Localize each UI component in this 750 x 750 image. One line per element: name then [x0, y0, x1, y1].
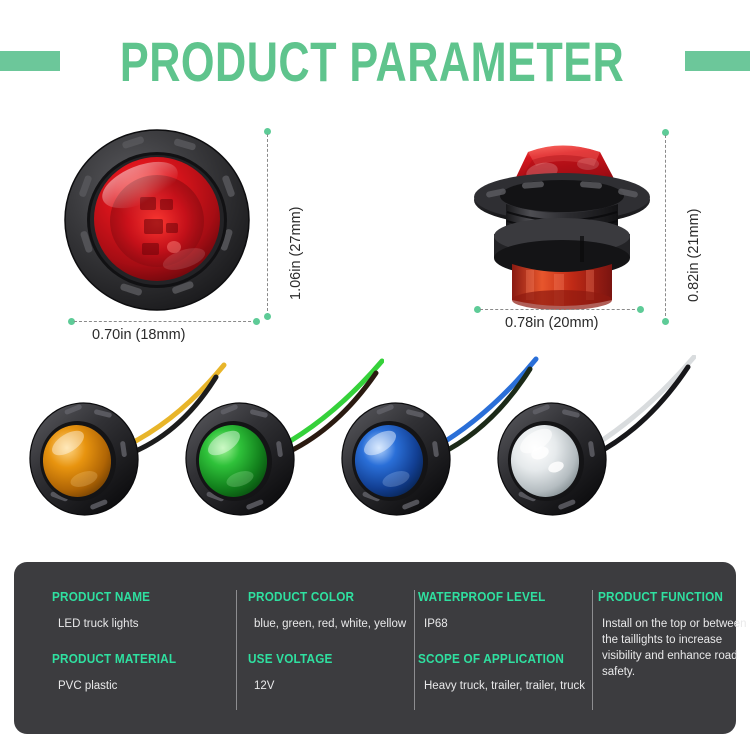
- spec-item-scope-of-application: SCOPE OF APPLICATION Heavy truck, traile…: [418, 652, 593, 695]
- spec-item-use-voltage: USE VOLTAGE 12V: [248, 652, 423, 695]
- product-image-front-view: [62, 127, 252, 313]
- spec-value-product-color: blue, green, red, white, yellow: [254, 617, 423, 633]
- dim-label-front-height: 1.06in (27mm): [288, 207, 304, 300]
- spec-item-product-material: PRODUCT MATERIAL PVC plastic: [52, 652, 237, 695]
- dim-label-front-width: 0.70in (18mm): [92, 327, 185, 343]
- spec-value-product-name: LED truck lights: [58, 617, 237, 633]
- spec-value-scope-of-application: Heavy truck, trailer, trailer, truck: [424, 679, 593, 695]
- spec-heading-product-color: PRODUCT COLOR: [248, 590, 413, 604]
- spec-heading-product-name: PRODUCT NAME: [52, 590, 226, 604]
- dim-line-angle-vertical: [665, 135, 666, 321]
- dim-dot-angle-bottom: [662, 318, 669, 325]
- spec-item-product-function: PRODUCT FUNCTION Install on the top or b…: [598, 590, 738, 680]
- dim-label-angle-width: 0.78in (20mm): [505, 315, 598, 331]
- color-variant-row: [0, 355, 750, 545]
- dim-dot-front-right: [253, 318, 260, 325]
- spec-value-waterproof-level: IP68: [424, 617, 593, 633]
- dim-line-front-horizontal: [74, 321, 256, 322]
- product-image-white-light: [496, 355, 696, 545]
- dim-line-front-vertical: [267, 134, 268, 316]
- dim-dot-angle-right: [637, 306, 644, 313]
- product-image-angled-view: [470, 128, 655, 310]
- specification-panel: PRODUCT NAME LED truck lights PRODUCT MA…: [14, 562, 736, 734]
- product-parameter-page: PRODUCT PARAMETER: [0, 0, 750, 750]
- header-bar-right: [685, 51, 750, 71]
- spec-heading-scope-of-application: SCOPE OF APPLICATION: [418, 652, 583, 666]
- header-bar-left: [0, 51, 60, 71]
- spec-item-product-name: PRODUCT NAME LED truck lights: [52, 590, 237, 633]
- spec-heading-product-function: PRODUCT FUNCTION: [598, 590, 730, 604]
- spec-heading-waterproof-level: WATERPROOF LEVEL: [418, 590, 583, 604]
- spec-value-use-voltage: 12V: [254, 679, 423, 695]
- spec-heading-product-material: PRODUCT MATERIAL: [52, 652, 226, 666]
- spec-item-waterproof-level: WATERPROOF LEVEL IP68: [418, 590, 593, 633]
- spec-column-product-function: PRODUCT FUNCTION Install on the top or b…: [598, 562, 738, 734]
- dim-line-angle-horizontal: [480, 309, 640, 310]
- page-header: PRODUCT PARAMETER: [0, 30, 750, 92]
- spec-value-product-material: PVC plastic: [58, 679, 237, 695]
- spec-column-product-name: PRODUCT NAME LED truck lights PRODUCT MA…: [52, 562, 237, 734]
- page-title: PRODUCT PARAMETER: [120, 33, 624, 88]
- spec-column-product-color: PRODUCT COLOR blue, green, red, white, y…: [248, 562, 423, 734]
- spec-item-product-color: PRODUCT COLOR blue, green, red, white, y…: [248, 590, 423, 633]
- dim-label-angle-height: 0.82in (21mm): [686, 209, 702, 302]
- spec-column-waterproof-level: WATERPROOF LEVEL IP68 SCOPE OF APPLICATI…: [418, 562, 593, 734]
- dim-dot-front-bottom: [264, 313, 271, 320]
- spec-heading-use-voltage: USE VOLTAGE: [248, 652, 413, 666]
- spec-value-product-function: Install on the top or between the tailli…: [602, 617, 750, 680]
